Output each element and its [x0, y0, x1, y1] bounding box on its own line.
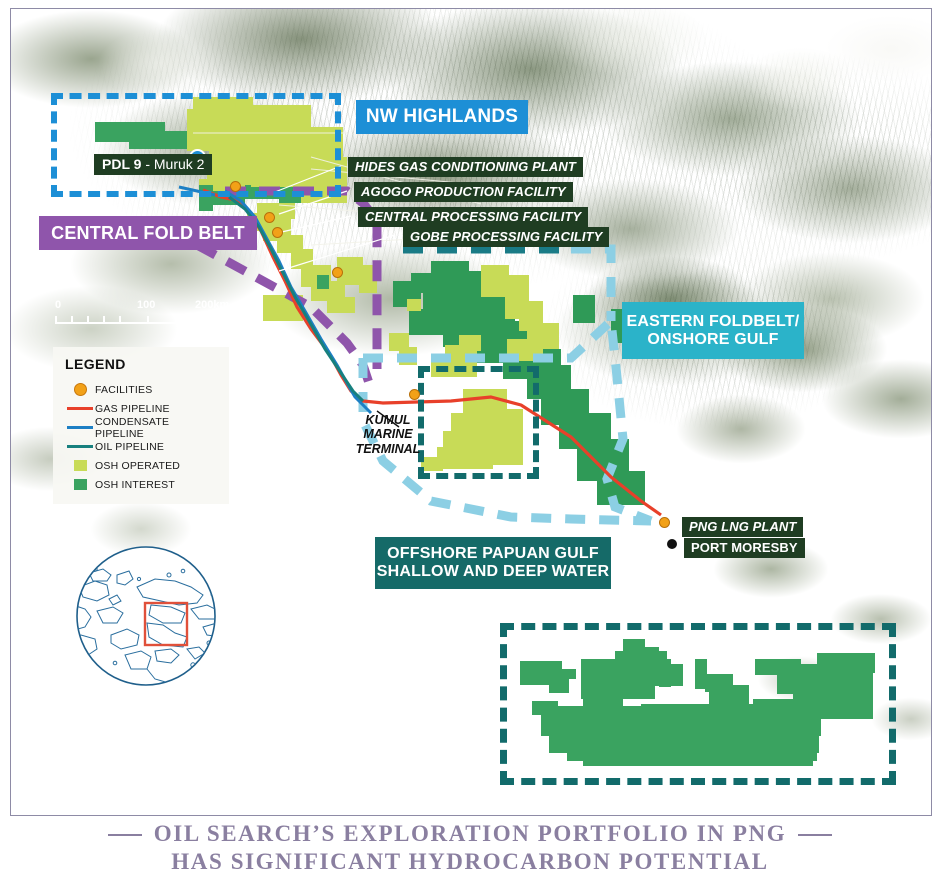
region-label-eastern-foldbelt-line1: EASTERN FOLDBELT/ — [627, 313, 800, 331]
osh-interest-icon — [65, 479, 95, 490]
legend-panel: LEGEND FACILITIES GAS PIPELINE CONDENSAT… — [53, 347, 229, 504]
globe-inset — [51, 545, 241, 687]
facility-marker-hides[interactable] — [230, 181, 241, 192]
legend-label-condensate-pipeline: CONDENSATE PIPELINE — [95, 416, 219, 440]
facility-label-png-lng-plant: PNG LNG PLANT — [682, 517, 803, 537]
legend-title: LEGEND — [65, 356, 219, 372]
city-marker-port-moresby — [667, 539, 677, 549]
facility-marker-agogo[interactable] — [264, 212, 275, 223]
nw-highlands-boundary-box — [51, 93, 341, 197]
poster-title-line1: OIL SEARCH’S EXPLORATION PORTFOLIO IN PN… — [154, 820, 786, 848]
well-label-pdl9-code: PDL 9 — [102, 156, 141, 172]
legend-item-osh-operated: OSH OPERATED — [65, 456, 219, 475]
region-label-eastern-foldbelt: EASTERN FOLDBELT/ ONSHORE GULF — [622, 302, 804, 359]
city-label-port-moresby: PORT MORESBY — [684, 538, 805, 558]
scale-label-0: 0 — [55, 299, 61, 311]
region-label-central-fold-belt: CENTRAL FOLD BELT — [39, 216, 257, 250]
facility-marker-cpf[interactable] — [272, 227, 283, 238]
terminal-label-line1: KUMUL MARINE — [343, 413, 433, 442]
legend-item-facilities: FACILITIES — [65, 380, 219, 399]
facility-label-central-processing: CENTRAL PROCESSING FACILITY — [358, 207, 588, 227]
inset-license-boundary-box — [500, 623, 896, 785]
condensate-pipeline-icon — [65, 426, 95, 429]
legend-item-oil-pipeline: OIL PIPELINE — [65, 437, 219, 456]
legend-label-osh-interest: OSH INTEREST — [95, 479, 175, 491]
scale-bar-line — [55, 313, 241, 324]
region-label-offshore-papuan-gulf: OFFSHORE PAPUAN GULF SHALLOW AND DEEP WA… — [375, 537, 611, 589]
scale-label-200: 200km — [195, 299, 229, 311]
scale-label-100: 100 — [137, 299, 155, 311]
facility-marker-gobe[interactable] — [332, 267, 343, 278]
facility-marker-kumul[interactable] — [409, 389, 420, 400]
facility-label-gobe: GOBE PROCESSING FACILITY — [403, 227, 609, 247]
legend-label-oil-pipeline: OIL PIPELINE — [95, 441, 164, 453]
facility-marker-png-lng[interactable] — [659, 517, 670, 528]
legend-item-condensate-pipeline: CONDENSATE PIPELINE — [65, 418, 219, 437]
region-label-offshore-line2: SHALLOW AND DEEP WATER — [377, 563, 610, 581]
region-label-nw-highlands: NW HIGHLANDS — [356, 100, 528, 134]
gas-pipeline-icon — [65, 407, 95, 410]
region-label-offshore-line1: OFFSHORE PAPUAN GULF — [377, 545, 610, 563]
poster-title-line2: HAS SIGNIFICANT HYDROCARBON POTENTIAL — [0, 848, 940, 876]
map-frame: NW HIGHLANDS CENTRAL FOLD BELT EASTERN F… — [10, 8, 932, 816]
legend-item-osh-interest: OSH INTEREST — [65, 475, 219, 494]
well-label-pdl9-muruk2: PDL 9 - Muruk 2 — [94, 154, 212, 175]
facility-label-hides: HIDES GAS CONDITIONING PLANT — [348, 157, 583, 177]
osh-operated-icon — [65, 460, 95, 471]
poster-title: OIL SEARCH’S EXPLORATION PORTFOLIO IN PN… — [0, 820, 940, 876]
terminal-label-kumul-marine: KUMUL MARINE TERMINAL — [343, 413, 433, 456]
oil-pipeline-icon — [65, 445, 95, 448]
legend-label-gas-pipeline: GAS PIPELINE — [95, 403, 170, 415]
legend-label-osh-operated: OSH OPERATED — [95, 460, 180, 472]
legend-label-facilities: FACILITIES — [95, 384, 152, 396]
facility-label-agogo: AGOGO PRODUCTION FACILITY — [354, 182, 573, 202]
terminal-label-line2: TERMINAL — [343, 442, 433, 456]
offshore-gulf-boundary-box — [418, 366, 539, 479]
region-label-eastern-foldbelt-line2: ONSHORE GULF — [627, 331, 800, 349]
scale-bar: 0 100 200km — [55, 299, 241, 324]
well-label-muruk2-name: - Muruk 2 — [141, 156, 204, 172]
map-poster: NW HIGHLANDS CENTRAL FOLD BELT EASTERN F… — [0, 0, 940, 886]
facilities-icon — [65, 383, 95, 396]
